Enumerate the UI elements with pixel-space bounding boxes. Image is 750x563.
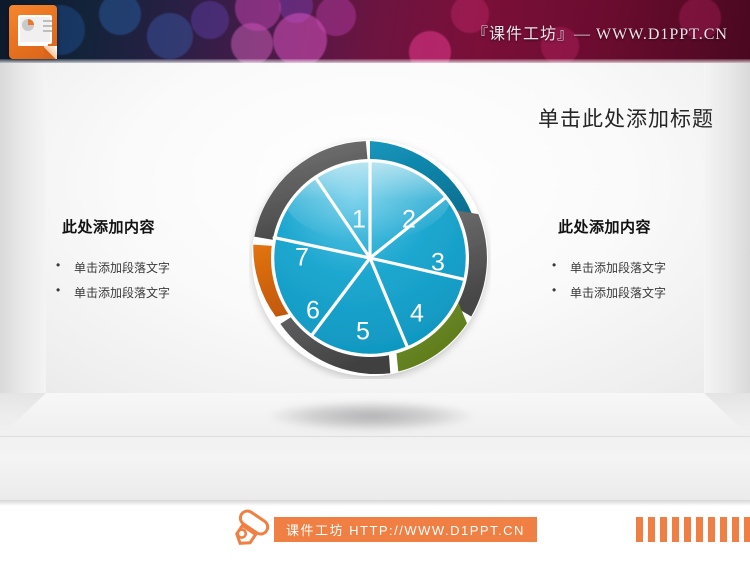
right-block-heading: 此处添加内容 xyxy=(558,216,748,237)
list-item: • 单击添加段落文字 xyxy=(548,284,748,301)
wheel-label-1: 1 xyxy=(352,206,366,234)
page-title: 单击此处添加标题 xyxy=(538,103,714,133)
stage-floor-edge xyxy=(0,436,750,437)
seven-segment-wheel-diagram: 1 2 3 4 5 6 7 xyxy=(249,137,491,379)
left-block-list: • 单击添加段落文字 • 单击添加段落文字 xyxy=(52,259,252,301)
header-banner: 『课件工坊』— WWW.D1PPT.CN xyxy=(0,0,750,63)
pencil-icon xyxy=(228,508,270,552)
slide-canvas: 『课件工坊』— WWW.D1PPT.CN 单击此处添加标题 此处添加内容 • 单… xyxy=(0,0,750,563)
wheel-label-4: 4 xyxy=(410,300,424,328)
right-block-list: • 单击添加段落文字 • 单击添加段落文字 xyxy=(548,259,748,301)
wheel-label-5: 5 xyxy=(356,318,370,346)
wheel-ground-shadow xyxy=(268,401,474,431)
footer-top-gradient xyxy=(0,500,750,506)
list-item-label: 单击添加段落文字 xyxy=(74,261,170,275)
left-block-heading: 此处添加内容 xyxy=(62,216,252,237)
list-item-label: 单击添加段落文字 xyxy=(570,286,666,300)
powerpoint-icon xyxy=(9,5,57,59)
list-item: • 单击添加段落文字 xyxy=(52,284,252,301)
wheel-label-6: 6 xyxy=(306,297,320,325)
wheel-label-7: 7 xyxy=(295,244,309,272)
stage-wall-left xyxy=(0,63,46,393)
bullet-marker: • xyxy=(552,259,556,271)
bullet-marker: • xyxy=(56,259,60,271)
bullet-marker: • xyxy=(56,284,60,296)
list-item: • 单击添加段落文字 xyxy=(548,259,748,276)
left-content-block: 此处添加内容 • 单击添加段落文字 • 单击添加段落文字 xyxy=(52,216,252,309)
wheel-label-2: 2 xyxy=(402,206,416,234)
list-item: • 单击添加段落文字 xyxy=(52,259,252,276)
footer-url-bar: 课件工坊 HTTP://WWW.D1PPT.CN xyxy=(274,517,537,542)
right-content-block: 此处添加内容 • 单击添加段落文字 • 单击添加段落文字 xyxy=(548,216,748,309)
list-item-label: 单击添加段落文字 xyxy=(74,286,170,300)
list-item-label: 单击添加段落文字 xyxy=(570,261,666,275)
wheel-label-3: 3 xyxy=(431,249,445,277)
header-brand-title: 『课件工坊』— WWW.D1PPT.CN xyxy=(472,20,728,44)
bullet-marker: • xyxy=(552,284,556,296)
footer-url-text: 课件工坊 HTTP://WWW.D1PPT.CN xyxy=(286,520,525,539)
stripes-decoration xyxy=(636,517,750,542)
